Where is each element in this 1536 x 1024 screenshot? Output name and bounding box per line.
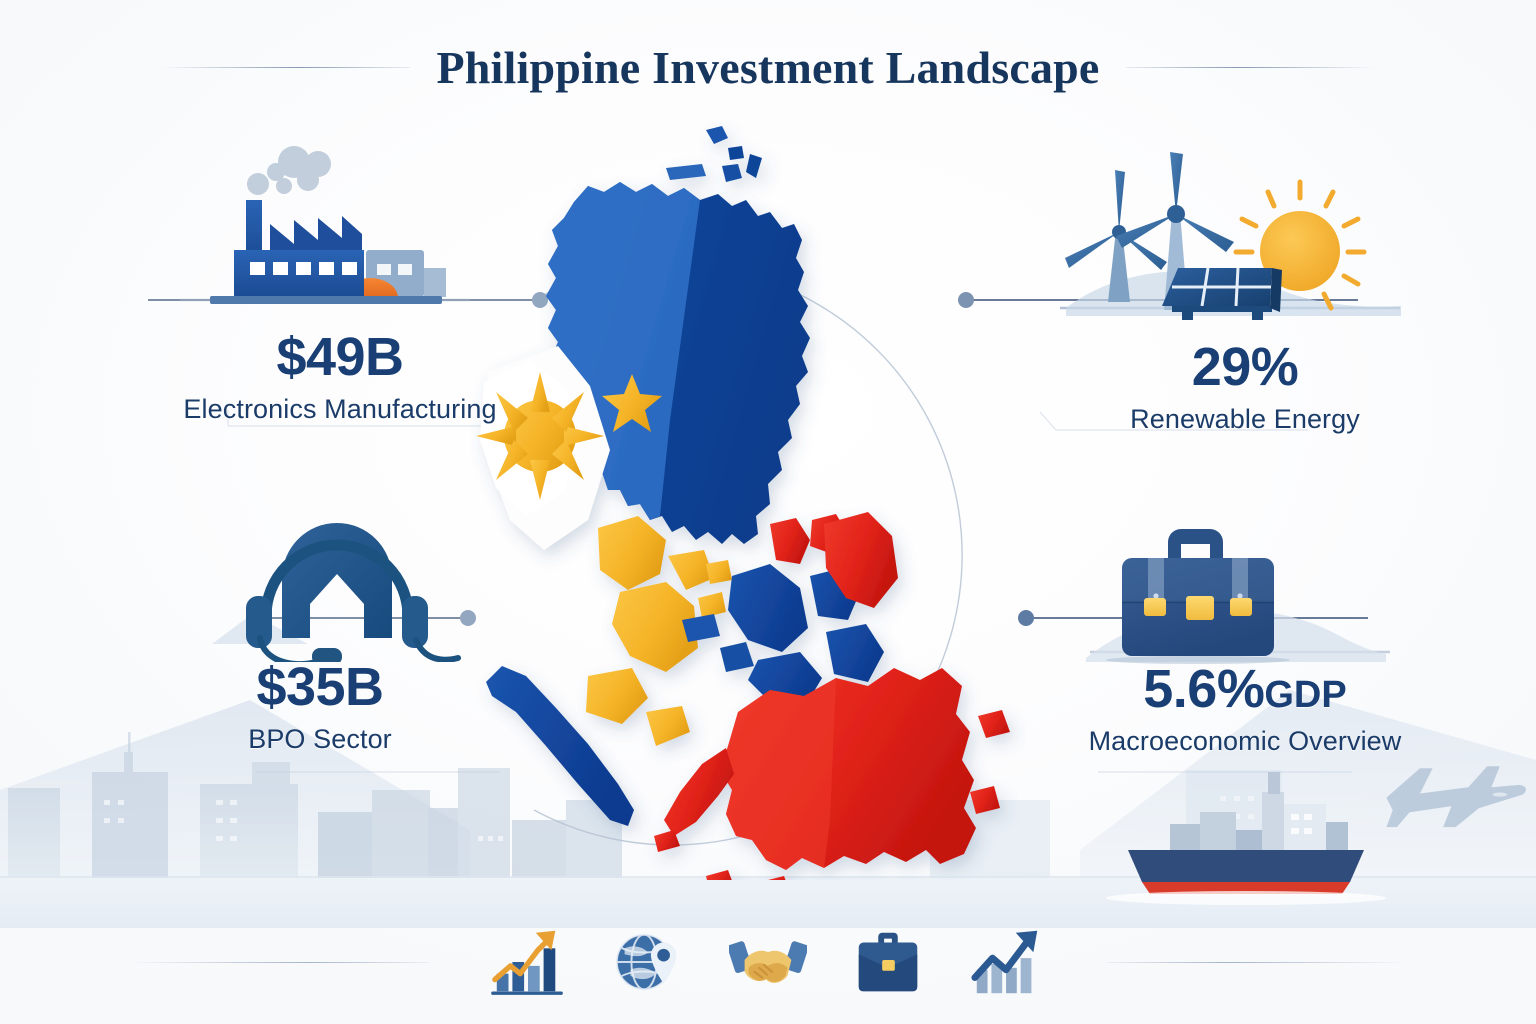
stat-value-suffix: GDP bbox=[1264, 674, 1346, 716]
title-rule-right bbox=[1126, 67, 1376, 68]
page-title: Philippine Investment Landscape bbox=[436, 41, 1099, 94]
bottom-icon-strip bbox=[0, 912, 1536, 1012]
smoke-puffs bbox=[247, 146, 331, 195]
stat-electronics-manufacturing[interactable]: $49B Electronics Manufacturing bbox=[60, 330, 620, 425]
stat-value: $35B bbox=[60, 660, 580, 714]
map-shapes bbox=[476, 126, 1010, 880]
growth-chart-gold-icon[interactable] bbox=[489, 923, 567, 1001]
bottom-divider-right bbox=[1107, 962, 1407, 963]
infographic-canvas: Philippine Investment Landscape bbox=[0, 0, 1536, 1024]
stat-value: 29% bbox=[1030, 340, 1460, 394]
headset-icon bbox=[212, 512, 462, 662]
stat-value: 5.6% bbox=[1143, 659, 1264, 719]
renewable-energy-icon bbox=[1056, 150, 1401, 320]
philippines-map[interactable] bbox=[470, 120, 1070, 880]
bottom-divider-left bbox=[129, 962, 429, 963]
briefcase-icon bbox=[1086, 510, 1386, 665]
title-rule-left bbox=[160, 67, 410, 68]
handshake-icon[interactable] bbox=[729, 923, 807, 1001]
header: Philippine Investment Landscape bbox=[0, 32, 1536, 102]
stat-label: Electronics Manufacturing bbox=[60, 394, 620, 425]
stat-label: Macroeconomic Overview bbox=[1010, 726, 1480, 757]
globe-location-icon[interactable] bbox=[609, 923, 687, 1001]
stat-value-row: 5.6%GDP bbox=[1010, 662, 1480, 716]
stat-bpo-sector[interactable]: $35B BPO Sector bbox=[60, 660, 580, 755]
briefcase-small-icon[interactable] bbox=[849, 923, 927, 1001]
stat-macroeconomic-overview[interactable]: 5.6%GDP Macroeconomic Overview bbox=[1010, 662, 1480, 757]
factory-icon bbox=[196, 140, 466, 315]
stat-renewable-energy[interactable]: 29% Renewable Energy bbox=[1030, 340, 1460, 435]
growth-chart-blue-icon[interactable] bbox=[969, 923, 1047, 1001]
stat-value: $49B bbox=[60, 330, 620, 384]
stat-label: Renewable Energy bbox=[1030, 404, 1460, 435]
stat-label: BPO Sector bbox=[60, 724, 580, 755]
